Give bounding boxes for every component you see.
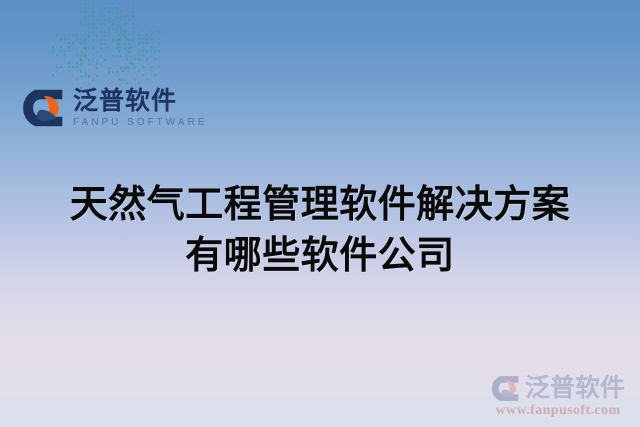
pixel-skyline-icon [0,0,220,100]
watermark-name-cn: 泛普软件 [525,376,625,401]
brand-name-en: FANPU SOFTWARE [73,118,207,128]
watermark: 泛普软件 www.fanpusoft.com [484,375,632,419]
page-title-line-1: 天然气工程管理软件解决方案 [0,180,640,231]
page-title: 天然气工程管理软件解决方案 有哪些软件公司 [0,180,640,281]
fanpu-hexagon-logo-icon [22,88,66,128]
brand-logo: 泛普软件 FANPU SOFTWARE [22,88,207,128]
page-title-line-2: 有哪些软件公司 [0,231,640,282]
fanpu-hexagon-watermark-icon [491,375,521,402]
watermark-logo-row: 泛普软件 [491,375,625,402]
promotional-banner: 泛普软件 FANPU SOFTWARE 天然气工程管理软件解决方案 有哪些软件公… [0,0,640,427]
watermark-url: www.fanpusoft.com [495,403,620,419]
brand-name-cn: 泛普软件 [73,88,207,114]
brand-wordblock: 泛普软件 FANPU SOFTWARE [73,88,207,128]
